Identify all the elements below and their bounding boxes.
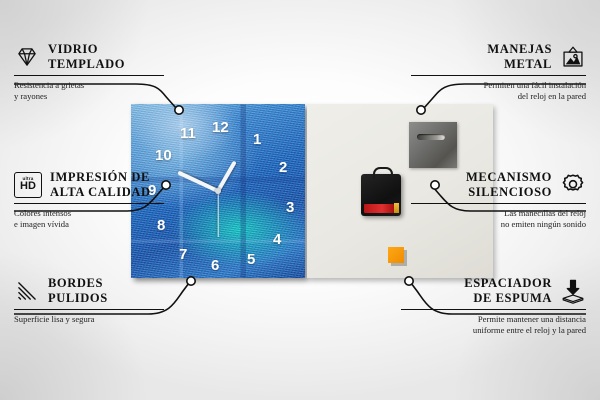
battery bbox=[364, 204, 394, 213]
callout-manejas-metal: MANEJAS METAL Permiten una fácil instala… bbox=[411, 42, 586, 103]
callout-divider bbox=[14, 75, 164, 76]
callout-title: BORDES PULIDOS bbox=[48, 276, 108, 306]
clock-numeral-12: 12 bbox=[212, 120, 229, 135]
callout-description-line-1: Permiten una fácil instalación bbox=[411, 80, 586, 92]
callout-mecanismo-silencioso: MECANISMO SILENCIOSO Las manecillas del … bbox=[411, 170, 586, 231]
battery-terminal bbox=[394, 203, 399, 213]
diamond-icon bbox=[14, 44, 40, 70]
ultra-hd-icon: ultra HD bbox=[14, 172, 42, 198]
hanger-keyhole-slot bbox=[417, 134, 445, 140]
callout-description-line-1: Resistencia a grietas bbox=[14, 80, 164, 92]
callout-divider bbox=[14, 309, 164, 310]
clock-second-hand bbox=[217, 191, 218, 237]
callout-divider bbox=[411, 203, 586, 204]
picture-frame-icon bbox=[560, 44, 586, 70]
callout-vidrio-templado: VIDRIO TEMPLADO Resistencia a grietas y … bbox=[14, 42, 164, 103]
polished-edge-icon bbox=[14, 278, 40, 304]
callout-impresion-alta-calidad: ultra HD IMPRESIÓN DE ALTA CALIDAD Color… bbox=[14, 170, 164, 231]
callout-description-line-2: e imagen vívida bbox=[14, 219, 164, 231]
foam-spacer-icon bbox=[560, 278, 586, 304]
callout-title: IMPRESIÓN DE ALTA CALIDAD bbox=[50, 170, 151, 200]
callout-divider bbox=[14, 203, 164, 204]
clock-numeral-4: 4 bbox=[273, 232, 281, 247]
callout-divider bbox=[411, 75, 586, 76]
callout-header: MECANISMO SILENCIOSO bbox=[411, 170, 586, 200]
gear-icon bbox=[560, 172, 586, 198]
clock-mechanism bbox=[361, 174, 401, 216]
foam-spacer-pad bbox=[388, 247, 404, 263]
callout-description-line-2: y rayones bbox=[14, 91, 164, 103]
callout-header: VIDRIO TEMPLADO bbox=[14, 42, 164, 72]
clock-numeral-10: 10 bbox=[155, 148, 172, 163]
callout-description-line-1: Permite mantener una distancia bbox=[401, 314, 586, 326]
clock-numeral-3: 3 bbox=[286, 200, 294, 215]
metal-hanger-plate bbox=[409, 122, 457, 168]
mechanism-hanging-loop bbox=[373, 167, 393, 179]
callout-description-line-1: Superficie lisa y segura bbox=[14, 314, 164, 326]
callout-description-line-2: del reloj en la pared bbox=[411, 91, 586, 103]
callout-divider bbox=[401, 309, 586, 310]
callout-espaciador-espuma: ESPACIADOR DE ESPUMA Permite mantener un… bbox=[401, 276, 586, 337]
infographic-canvas: 12 1 2 3 4 5 6 7 8 9 10 11 bbox=[0, 0, 600, 400]
callout-header: BORDES PULIDOS bbox=[14, 276, 164, 306]
clock-numeral-1: 1 bbox=[253, 132, 261, 147]
callout-description-line-1: Colores intensos bbox=[14, 208, 164, 220]
clock-numeral-6: 6 bbox=[211, 258, 219, 273]
callout-title: VIDRIO TEMPLADO bbox=[48, 42, 125, 72]
clock-center-cap bbox=[215, 188, 221, 194]
callout-header: ESPACIADOR DE ESPUMA bbox=[401, 276, 586, 306]
callout-header: ultra HD IMPRESIÓN DE ALTA CALIDAD bbox=[14, 170, 164, 200]
clock-numeral-5: 5 bbox=[247, 252, 255, 267]
callout-header: MANEJAS METAL bbox=[411, 42, 586, 72]
callout-title: MANEJAS METAL bbox=[487, 42, 552, 72]
callout-title: MECANISMO SILENCIOSO bbox=[466, 170, 552, 200]
callout-description-line-1: Las manecillas del reloj bbox=[411, 208, 586, 220]
callout-title: ESPACIADOR DE ESPUMA bbox=[464, 276, 552, 306]
clock-numeral-11: 11 bbox=[180, 126, 196, 141]
callout-bordes-pulidos: BORDES PULIDOS Superficie lisa y segura bbox=[14, 276, 164, 325]
clock-numeral-2: 2 bbox=[279, 160, 287, 175]
clock-numeral-7: 7 bbox=[179, 247, 187, 262]
ultra-hd-icon-big-label: HD bbox=[20, 181, 36, 193]
callout-description-line-2: no emiten ningún sonido bbox=[411, 219, 586, 231]
connector-dot-bordes bbox=[187, 277, 195, 285]
callout-description-line-2: uniforme entre el reloj y la pared bbox=[401, 325, 586, 337]
